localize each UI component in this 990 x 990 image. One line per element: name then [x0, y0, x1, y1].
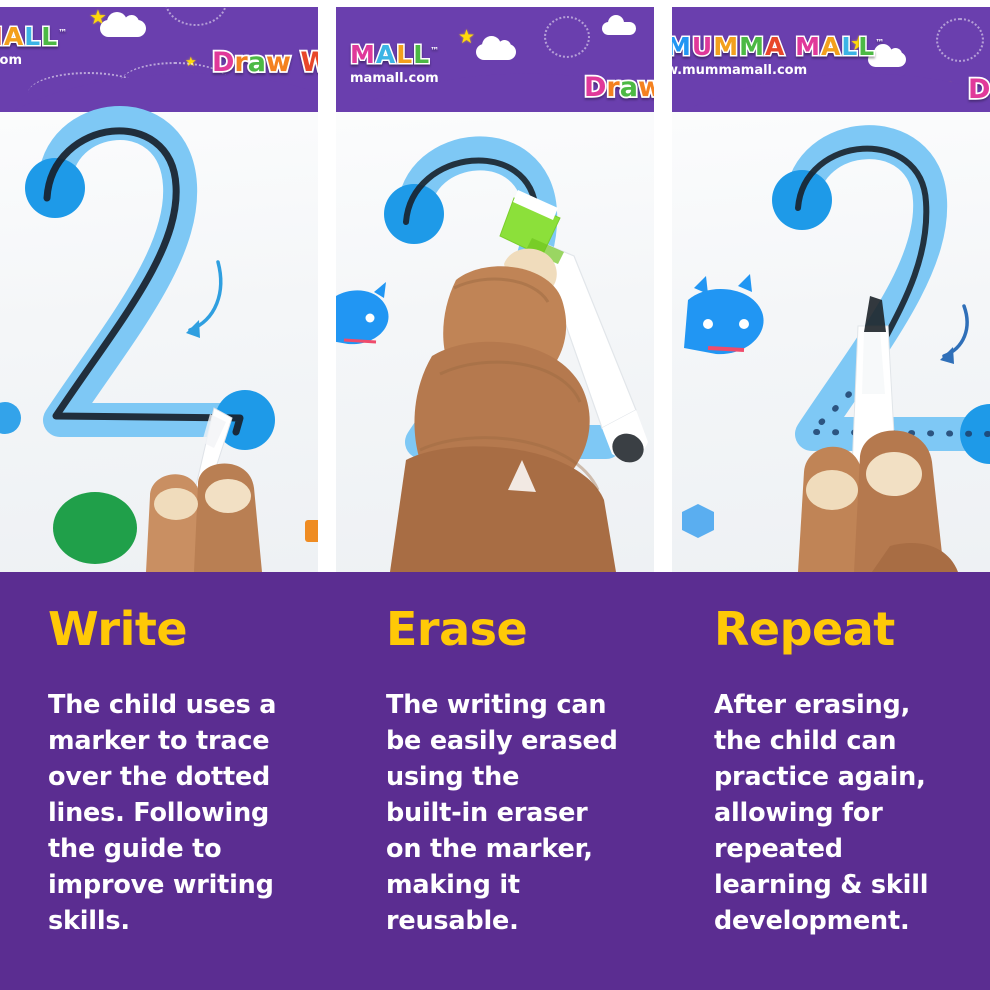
brand-logo-text: MALL™: [0, 22, 68, 51]
photo-panel-repeat: ★ ★ MUMMA MALL™ w.mummamall.com D: [672, 0, 990, 572]
steps-text-strip: Write The child uses a marker to trace o…: [0, 572, 990, 990]
panel-top-edge: [672, 0, 990, 7]
direction-arrow-icon: [186, 262, 221, 338]
product-feature-graphic: ★ ★ MALL™ ll.com Draw Wi: [0, 0, 990, 990]
panel-top-edge: [336, 0, 654, 7]
trademark-symbol: ™: [875, 39, 885, 49]
photo-strip: ★ ★ MALL™ ll.com Draw Wi: [0, 0, 990, 572]
brand-logo: MALL™ mamall.com: [350, 40, 440, 86]
trademark-symbol: ™: [58, 29, 68, 39]
photo-panel-write: ★ ★ MALL™ ll.com Draw Wi: [0, 0, 318, 572]
marker-pen-and-hand: [672, 290, 990, 572]
step-column-write: Write The child uses a marker to trace o…: [0, 572, 330, 990]
draw-with-title: D: [968, 74, 990, 105]
brand-url: w.mummamall.com: [672, 63, 885, 78]
brand-logo: MALL™ ll.com: [0, 22, 68, 68]
brand-url: mamall.com: [350, 71, 440, 86]
draw-with-title: Draw: [584, 72, 654, 103]
trademark-symbol: ™: [430, 47, 440, 57]
step-title-write: Write: [48, 606, 304, 652]
step-column-repeat: Repeat After erasing, the child can prac…: [660, 572, 990, 990]
step-column-erase: Erase The writing can be easily erased u…: [330, 572, 660, 990]
step-title-erase: Erase: [386, 606, 642, 652]
step-body-write: The child uses a marker to trace over th…: [48, 688, 304, 940]
marker-pen-with-eraser: [336, 160, 654, 572]
draw-with-title: Draw Wi: [212, 47, 318, 78]
brand-logo-text: MUMMA MALL™: [672, 32, 885, 61]
step-title-repeat: Repeat: [714, 606, 976, 652]
brand-url: ll.com: [0, 53, 68, 68]
brand-logo-text: MALL™: [350, 40, 440, 69]
photo-panel-erase: ★ ★ MALL™ mamall.com Dra: [336, 0, 654, 572]
step-body-repeat: After erasing, the child can practice ag…: [714, 688, 976, 940]
marker-pen-and-hand: [0, 400, 318, 572]
panel-top-edge: [0, 0, 318, 7]
brand-logo: MUMMA MALL™ w.mummamall.com: [672, 32, 885, 78]
step-body-erase: The writing can be easily erased using t…: [386, 688, 642, 940]
